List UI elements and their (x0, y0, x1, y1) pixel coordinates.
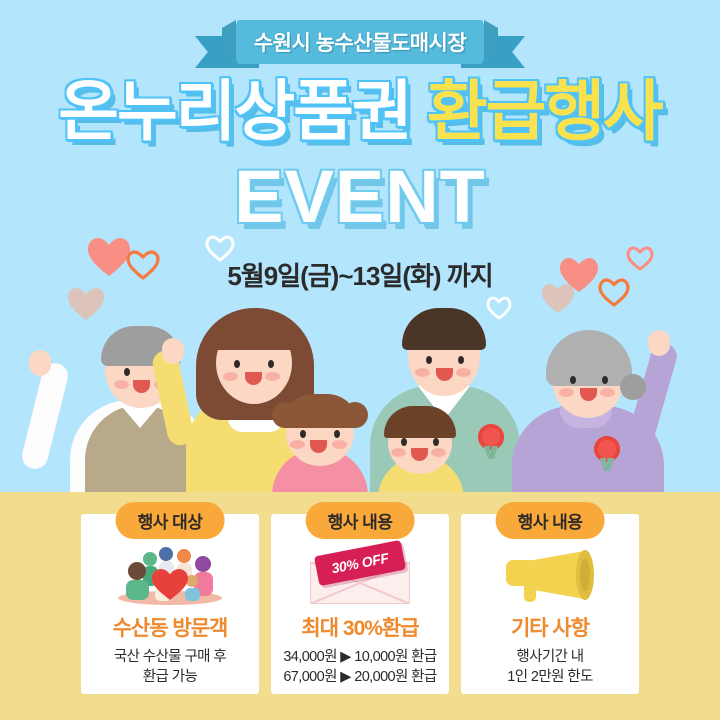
mother-cheek-right (265, 372, 280, 381)
card-badge: 행사 내용 (306, 502, 415, 539)
father-hair (402, 308, 486, 350)
card-body-line: 환급 가능 (114, 668, 226, 688)
grandmother-hand (648, 330, 670, 356)
card-body: 행사기간 내 1인 2만원 한도 (507, 648, 593, 687)
poster-headline: 온누리상품권 환급행사 (0, 78, 720, 144)
girl-eye-left (300, 430, 306, 438)
grandmother-cheek-right (600, 388, 615, 397)
grandfather-cheek-left (114, 380, 129, 389)
card-title: 최대 30%환급 (301, 612, 418, 642)
card-title: 수산동 방문객 (113, 612, 228, 642)
mother-cheek-left (223, 372, 238, 381)
card-body-line: 1인 2만원 한도 (507, 668, 593, 688)
boy-eye-left (401, 438, 407, 446)
mother-eye-right (268, 360, 274, 368)
info-card-audience: 행사 대상 수산동 방문객 국산 (81, 514, 259, 694)
ribbon-label: 수원시 농수산물도매시장 (254, 27, 466, 57)
boy-eye-right (433, 438, 439, 446)
coupon-label: 30% OFF (330, 550, 390, 577)
mother-eye-left (234, 360, 240, 368)
headline-part-2: 환급행사 (427, 74, 662, 148)
family-heart-icon (104, 544, 236, 606)
girl-bun-right (342, 402, 368, 428)
family-illustration (0, 290, 720, 500)
info-card-discount: 행사 내용 30% OFF 최대 30%환급 34,000원 ▶ 10,000원… (271, 514, 449, 694)
mother-hair-front (210, 312, 300, 350)
event-date-range: 5월9일(금)~13일(화) 까지 (0, 256, 720, 293)
grandfather-arm (19, 360, 70, 471)
card-body-line: 국산 수산물 구매 후 (114, 648, 226, 668)
girl-bun-left (272, 402, 298, 428)
grandfather-hand (29, 350, 51, 376)
grandmother-bun (620, 374, 646, 400)
card-title: 기타 사항 (511, 612, 589, 642)
girl-eye-right (334, 430, 340, 438)
grandmother-cheek-left (559, 388, 574, 397)
card-badge: 행사 내용 (496, 502, 605, 539)
discount-envelope-icon: 30% OFF (294, 544, 426, 606)
event-poster: 수원시 농수산물도매시장 온누리상품권 환급행사 EVENT 5월9일(금)~1… (0, 0, 720, 720)
info-card-list: 행사 대상 수산동 방문객 국산 (81, 514, 639, 694)
card-body: 34,000원 ▶ 10,000원 환급 67,000원 ▶ 20,000원 환… (283, 648, 436, 687)
card-body-line: 행사기간 내 (507, 648, 593, 668)
card-body-line: 34,000원 ▶ 10,000원 환급 (283, 648, 436, 668)
card-body-line: 67,000원 ▶ 20,000원 환급 (283, 668, 436, 688)
info-panel: 행사 대상 수산동 방문객 국산 (0, 492, 720, 720)
card-badge: 행사 대상 (116, 502, 225, 539)
event-word: EVENT (0, 160, 720, 234)
megaphone-opening (576, 550, 594, 600)
father-cheek-left (415, 368, 430, 377)
mother-hand (162, 338, 184, 364)
grandmother-hair (546, 330, 632, 386)
boy-cheek-right (431, 448, 446, 457)
father-eye-left (426, 356, 432, 364)
headline-part-1: 온누리상품권 (58, 74, 410, 148)
ribbon-body: 수원시 농수산물도매시장 (235, 20, 485, 64)
grandmother-eye-left (570, 376, 576, 384)
father-eye-right (458, 356, 464, 364)
card-body: 국산 수산물 구매 후 환급 가능 (114, 648, 226, 687)
ribbon-banner: 수원시 농수산물도매시장 (195, 14, 525, 76)
carnation-icon (594, 436, 620, 462)
father-cheek-right (456, 368, 471, 377)
girl-cheek-left (290, 440, 305, 449)
grandfather-eye-left (124, 368, 130, 376)
info-card-notice: 행사 내용 기타 사항 행사기간 내 1인 2만원 한도 (461, 514, 639, 694)
boy-cheek-left (391, 448, 406, 457)
megaphone-icon (484, 544, 616, 606)
carnation-icon (478, 424, 504, 450)
grandmother-eye-right (602, 376, 608, 384)
girl-cheek-right (332, 440, 347, 449)
